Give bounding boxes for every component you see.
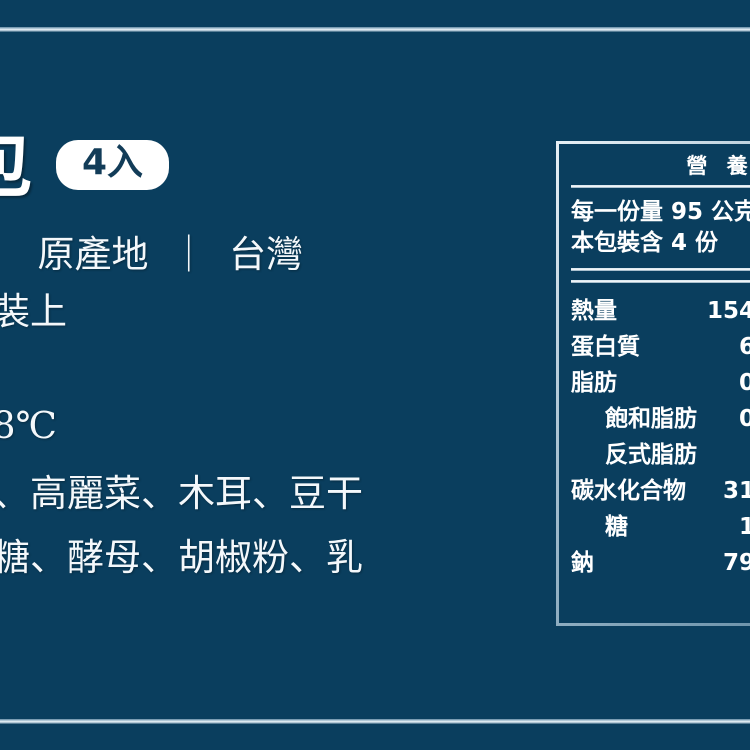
spec-row-shelf-life: 個月 — [0, 340, 545, 397]
nutrition-row-value: 0 — [617, 365, 750, 401]
bottom-frame-rule — [0, 719, 750, 724]
nutrition-panel-inner: 營 養 每一份量 95 公克 本包裝含 4 份 熱量 154 蛋白質 6 脂肪 — [559, 144, 750, 623]
nutrition-row-calories: 熱量 154 — [571, 293, 750, 329]
nutrition-row-label: 熱量 — [571, 293, 617, 329]
nutrition-row-value: 6 — [640, 329, 750, 365]
product-label-canvas: 菜包 4入 公克 原產地 ｜ 台灣 示於包裝上 個月 凍於-18℃ 粉、水、高麗… — [0, 0, 750, 750]
nutrition-row-label: 碳水化合物 — [571, 473, 686, 509]
product-spec-lines: 公克 原產地 ｜ 台灣 示於包裝上 個月 凍於-18℃ — [0, 226, 545, 454]
nutrition-row-value: 31 — [686, 473, 750, 509]
nutrition-row-label: 飽和脂肪 — [571, 401, 697, 437]
nutrition-row-value: 1 — [628, 509, 750, 545]
nutrition-row-label: 鈉 — [571, 545, 594, 581]
nutrition-row-saturated-fat: 飽和脂肪 0 — [571, 401, 750, 437]
nutrition-row-trans-fat: 反式脂肪 — [571, 437, 750, 473]
nutrition-row-sodium: 鈉 79 — [571, 545, 750, 581]
nutrition-row-label: 糖 — [571, 509, 628, 545]
servings-per-package-text: 本包裝含 4 份 — [571, 228, 750, 259]
nutrition-row-carbohydrate: 碳水化合物 31 — [571, 473, 750, 509]
nutrition-rows: 熱量 154 蛋白質 6 脂肪 0 飽和脂肪 0 反式脂肪 — [571, 283, 750, 581]
spec-row-origin: 公克 原產地 ｜ 台灣 — [0, 226, 545, 283]
serving-size-text: 每一份量 95 公克 — [571, 197, 750, 228]
nutrition-row-value: 154 — [617, 293, 750, 329]
nutrition-row-label: 蛋白質 — [571, 329, 640, 365]
product-name: 菜包 — [0, 128, 34, 202]
nutrition-row-sugar: 糖 1 — [571, 509, 750, 545]
spec-origin-value: 台灣 — [229, 233, 303, 276]
nutrition-row-label: 脂肪 — [571, 365, 617, 401]
nutrition-rule-under-serving — [571, 268, 750, 271]
spec-origin-label: 原產地 — [38, 233, 149, 276]
spec-row-storage: 凍於-18℃ — [0, 397, 545, 454]
nutrition-row-protein: 蛋白質 6 — [571, 329, 750, 365]
ingredient-row-1: 粉、水、高麗菜、木耳、豆干 — [0, 462, 545, 526]
nutrition-facts-panel: 營 養 每一份量 95 公克 本包裝含 4 份 熱量 154 蛋白質 6 脂肪 — [556, 141, 750, 626]
nutrition-row-fat: 脂肪 0 — [571, 365, 750, 401]
nutrition-row-label: 反式脂肪 — [571, 437, 697, 473]
nutrition-serving-block: 每一份量 95 公克 本包裝含 4 份 — [571, 188, 750, 259]
spec-row-marking: 示於包裝上 — [0, 283, 545, 340]
nutrition-row-value: 0 — [697, 401, 750, 437]
nutrition-facts-title: 營 養 — [571, 144, 750, 180]
spec-divider-bar: ｜ — [160, 226, 217, 283]
ingredient-lines: 粉、水、高麗菜、木耳、豆干 蘿蔔、糖、酵母、胡椒粉、乳 — [0, 462, 545, 590]
ingredient-row-2: 蘿蔔、糖、酵母、胡椒粉、乳 — [0, 526, 545, 590]
product-info-block: 菜包 4入 公克 原產地 ｜ 台灣 示於包裝上 個月 凍於-18℃ 粉、水、高麗… — [0, 120, 545, 590]
product-title-row: 菜包 4入 — [0, 120, 545, 210]
top-frame-rule — [0, 27, 750, 32]
nutrition-row-value: 79 — [594, 545, 750, 581]
piece-count-badge: 4入 — [56, 140, 169, 190]
